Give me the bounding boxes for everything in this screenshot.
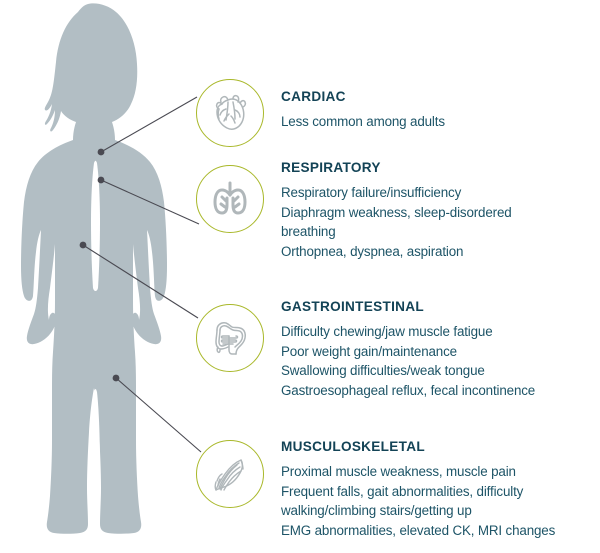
section-gastrointestinal: GASTROINTESTINAL Difficulty chewing/jaw … [281, 300, 535, 400]
section-line: Diaphragm weakness, sleep-disordered [281, 203, 512, 223]
section-line: Respiratory failure/insufficiency [281, 183, 512, 203]
section-musculoskeletal: MUSCULOSKELETAL Proximal muscle weakness… [281, 440, 555, 540]
section-line: EMG abnormalities, elevated CK, MRI chan… [281, 521, 555, 541]
section-lines-gastrointestinal: Difficulty chewing/jaw muscle fatigue Po… [281, 322, 535, 400]
section-line: Less common among adults [281, 112, 445, 132]
section-line: Difficulty chewing/jaw muscle fatigue [281, 322, 535, 342]
section-heading-musculoskeletal: MUSCULOSKELETAL [281, 440, 555, 455]
section-line: walking/climbing stairs/getting up [281, 501, 555, 521]
section-line: Poor weight gain/maintenance [281, 342, 535, 362]
section-line: Orthopnea, dyspnea, aspiration [281, 242, 512, 262]
section-line: Proximal muscle weakness, muscle pain [281, 462, 555, 482]
section-lines-respiratory: Respiratory failure/insufficiency Diaphr… [281, 183, 512, 261]
section-line: Frequent falls, gait abnormalities, diff… [281, 482, 555, 502]
section-cardiac: CARDIAC Less common among adults [281, 90, 445, 132]
text-layer: CARDIAC Less common among adults RESPIRA… [0, 0, 600, 553]
section-lines-cardiac: Less common among adults [281, 112, 445, 132]
body-systems-infographic: CARDIAC Less common among adults RESPIRA… [0, 0, 600, 553]
section-respiratory: RESPIRATORY Respiratory failure/insuffic… [281, 161, 512, 261]
section-heading-gastrointestinal: GASTROINTESTINAL [281, 300, 535, 315]
section-lines-musculoskeletal: Proximal muscle weakness, muscle pain Fr… [281, 462, 555, 540]
section-line: Swallowing difficulties/weak tongue [281, 361, 535, 381]
section-heading-cardiac: CARDIAC [281, 90, 445, 105]
section-heading-respiratory: RESPIRATORY [281, 161, 512, 176]
section-line: breathing [281, 222, 512, 242]
section-line: Gastroesophageal reflux, fecal incontine… [281, 381, 535, 401]
